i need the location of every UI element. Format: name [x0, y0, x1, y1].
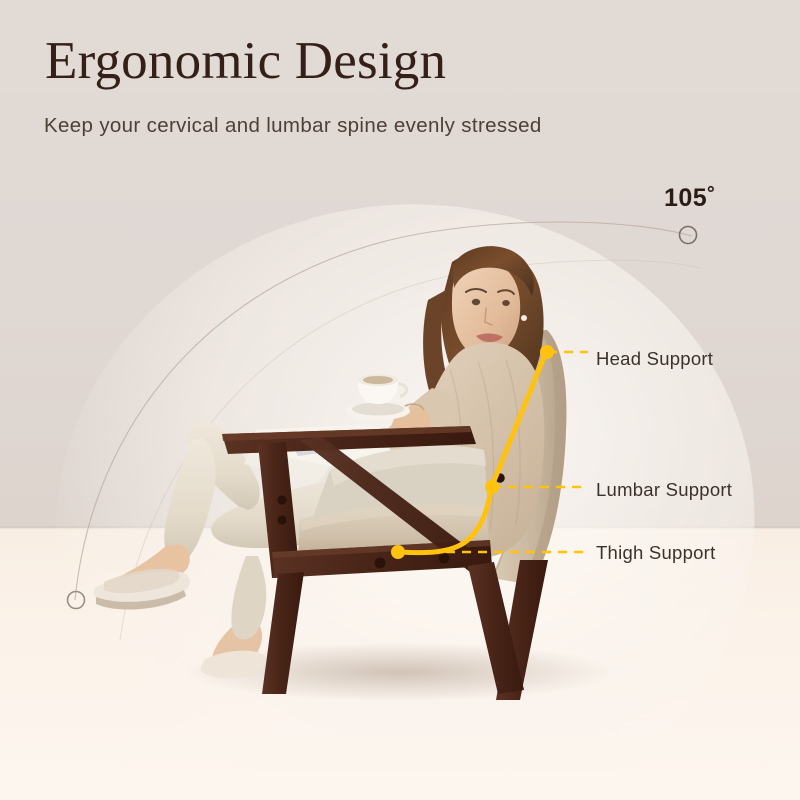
page-title: Ergonomic Design: [45, 34, 446, 89]
page-subtitle: Keep your cervical and lumbar spine even…: [44, 112, 564, 139]
earring: [521, 315, 527, 321]
frame-bolt: [277, 515, 286, 524]
node-thigh: [391, 545, 405, 559]
node-lumbar: [485, 480, 499, 494]
coffee-cup-and-saucer: [346, 374, 410, 420]
infographic-canvas: Ergonomic Design Keep your cervical and …: [0, 0, 800, 800]
recline-angle-label: 105˚: [664, 184, 716, 213]
rear-leg-pants: [231, 556, 266, 640]
frame-bolt: [375, 558, 386, 569]
calf-shin: [164, 438, 215, 563]
callout-head-support: Head Support: [596, 348, 713, 370]
callout-lumbar-support: Lumbar Support: [596, 479, 732, 501]
frame-bolt: [439, 553, 450, 564]
node-head: [540, 345, 554, 359]
frame-bolt: [277, 495, 286, 504]
callout-thigh-support: Thigh Support: [596, 542, 715, 564]
slide-sandal: [94, 569, 190, 610]
